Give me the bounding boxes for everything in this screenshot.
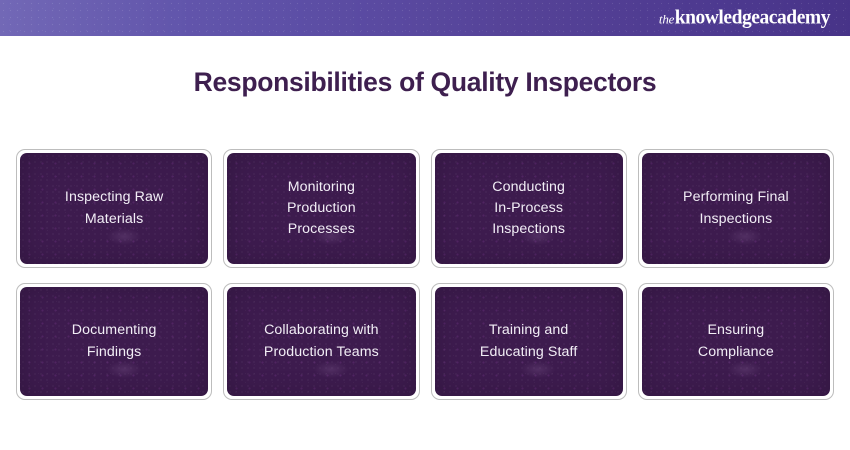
card-label: Ensuring Compliance: [688, 320, 784, 362]
card-label: Documenting Findings: [62, 320, 167, 362]
card-surface: Training and Educating Staff: [435, 287, 623, 396]
card-label: Monitoring Production Processes: [277, 177, 366, 240]
page-title: Responsibilities of Quality Inspectors: [0, 67, 850, 98]
responsibility-card-1: Inspecting Raw Materials: [16, 149, 212, 268]
card-surface: Collaborating with Production Teams: [227, 287, 415, 396]
responsibilities-card-grid: Inspecting Raw Materials Monitoring Prod…: [16, 149, 834, 400]
card-label: Performing Final Inspections: [673, 187, 799, 229]
card-label: Training and Educating Staff: [470, 320, 587, 362]
card-surface: Monitoring Production Processes: [227, 153, 415, 264]
card-label: Collaborating with Production Teams: [254, 320, 389, 362]
responsibility-card-5: Documenting Findings: [16, 283, 212, 400]
logo-name-text: knowledgeacademy: [675, 8, 830, 28]
card-surface: Ensuring Compliance: [642, 287, 830, 396]
logo-prefix-text: the: [659, 12, 675, 25]
card-surface: Documenting Findings: [20, 287, 208, 396]
brand-header-bar: the knowledgeacademy: [0, 0, 850, 36]
responsibility-card-6: Collaborating with Production Teams: [223, 283, 419, 400]
card-surface: Inspecting Raw Materials: [20, 153, 208, 264]
responsibility-card-2: Monitoring Production Processes: [223, 149, 419, 268]
card-label: Inspecting Raw Materials: [55, 187, 173, 229]
responsibility-card-4: Performing Final Inspections: [638, 149, 834, 268]
card-surface: Conducting In-Process Inspections: [435, 153, 623, 264]
brand-logo-icon: the knowledgeacademy: [659, 8, 830, 28]
card-label: Conducting In-Process Inspections: [482, 177, 575, 240]
responsibility-card-8: Ensuring Compliance: [638, 283, 834, 400]
card-surface: Performing Final Inspections: [642, 153, 830, 264]
responsibility-card-3: Conducting In-Process Inspections: [431, 149, 627, 268]
responsibility-card-7: Training and Educating Staff: [431, 283, 627, 400]
